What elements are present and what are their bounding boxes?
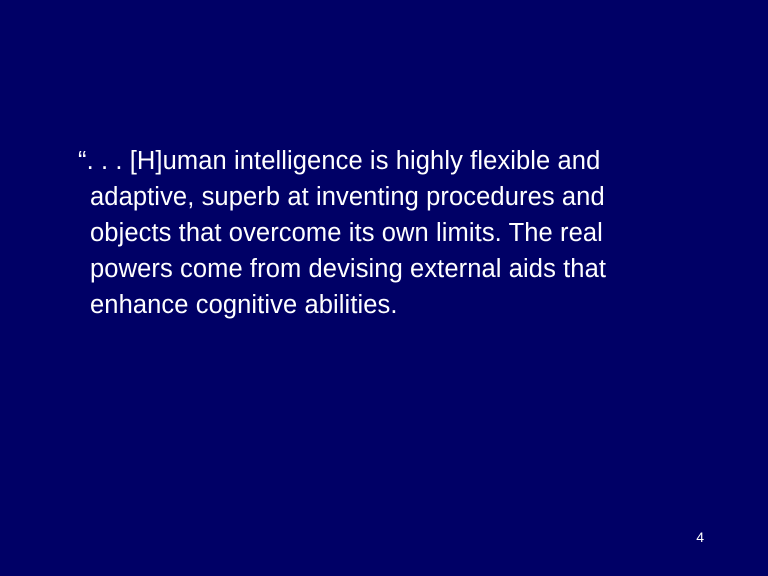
quote-line-4: powers come from devising external aids …: [78, 251, 703, 287]
quote-line-5: enhance cognitive abilities.: [78, 287, 703, 323]
quote-text-block: “. . . [H]uman intelligence is highly fl…: [78, 143, 703, 323]
quote-line-1: “. . . [H]uman intelligence is highly fl…: [78, 143, 703, 179]
slide-canvas: “. . . [H]uman intelligence is highly fl…: [0, 0, 768, 576]
quote-line-3: objects that overcome its own limits. Th…: [78, 215, 703, 251]
quote-line-2: adaptive, superb at inventing procedures…: [78, 179, 703, 215]
page-number: 4: [696, 529, 704, 545]
